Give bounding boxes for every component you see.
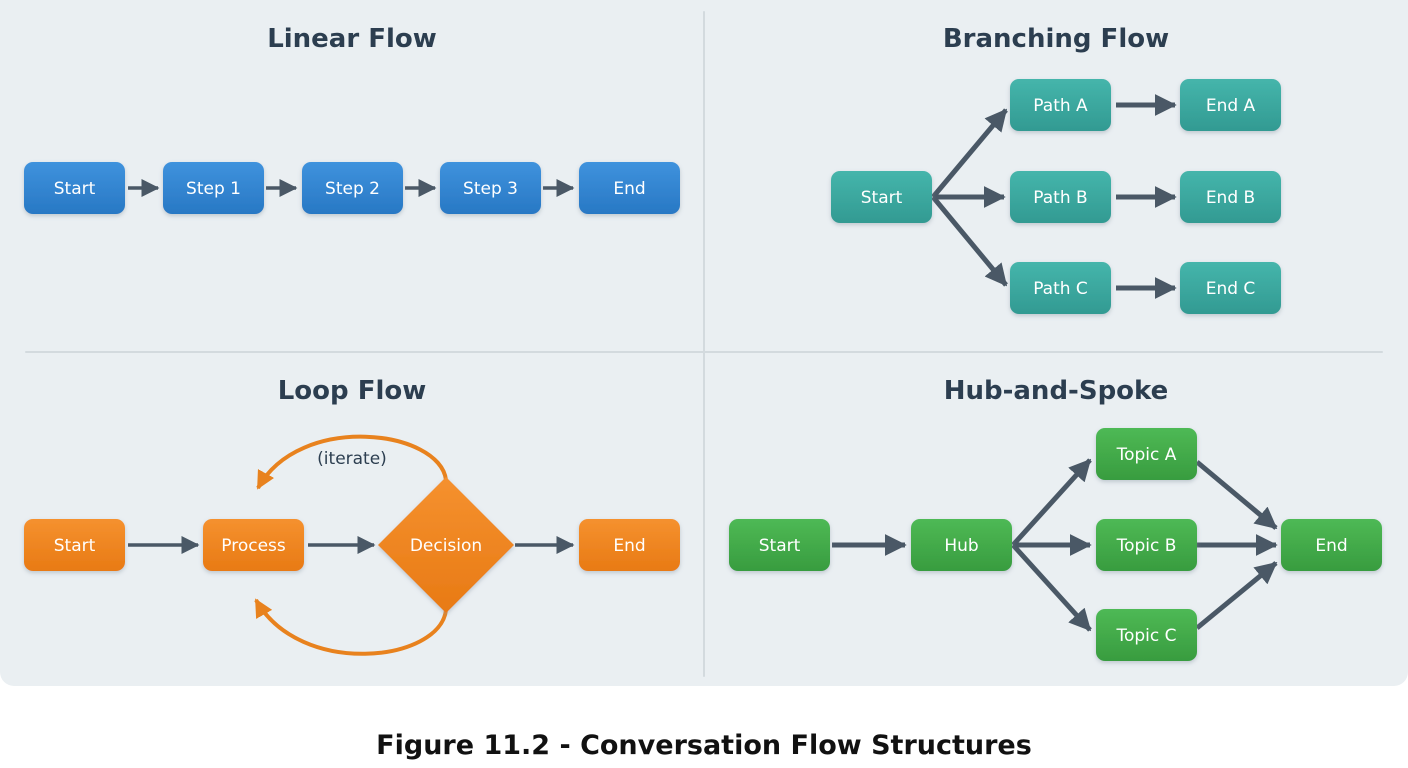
node-label: Step 2 bbox=[325, 179, 380, 199]
hub-edges bbox=[832, 460, 1276, 630]
node-label: Start bbox=[54, 536, 96, 556]
edge-hub-to-topicC bbox=[1013, 545, 1090, 630]
node-loop-start[interactable]: Start bbox=[24, 519, 125, 571]
node-label: End C bbox=[1206, 279, 1256, 299]
panel-title-loop: Loop Flow bbox=[278, 376, 427, 406]
panel-title-hub: Hub-and-Spoke bbox=[944, 376, 1169, 406]
node-branching-endC[interactable]: End C bbox=[1180, 262, 1281, 314]
node-branching-pathC[interactable]: Path C bbox=[1010, 262, 1111, 314]
node-linear-step1[interactable]: Step 1 bbox=[163, 162, 264, 214]
node-label: Start bbox=[759, 536, 801, 556]
node-hub-topicB[interactable]: Topic B bbox=[1096, 519, 1197, 571]
node-linear-step2[interactable]: Step 2 bbox=[302, 162, 403, 214]
edge-topicA-to-end bbox=[1197, 462, 1276, 528]
node-loop-process[interactable]: Process bbox=[203, 519, 304, 571]
node-linear-end[interactable]: End bbox=[579, 162, 680, 214]
node-label: Topic B bbox=[1116, 536, 1177, 556]
node-label: End A bbox=[1206, 96, 1256, 116]
node-label: End bbox=[613, 536, 645, 556]
edge-start-to-pathA bbox=[933, 110, 1006, 197]
node-label: Step 3 bbox=[463, 179, 518, 199]
edge-decision-to-process-iterate-bottom bbox=[256, 600, 446, 654]
node-hub-topicA[interactable]: Topic A bbox=[1096, 428, 1197, 480]
node-branching-pathA[interactable]: Path A bbox=[1010, 79, 1111, 131]
node-label: Decision bbox=[410, 536, 482, 556]
node-loop-decision[interactable]: Decision bbox=[378, 477, 514, 613]
figure-caption: Figure 11.2 - Conversation Flow Structur… bbox=[376, 730, 1032, 761]
loop-iterate-label: (iterate) bbox=[317, 449, 387, 469]
node-label: Start bbox=[861, 188, 903, 208]
node-branching-start[interactable]: Start bbox=[831, 171, 932, 223]
edge-topicC-to-end bbox=[1197, 563, 1276, 628]
node-label: End B bbox=[1206, 188, 1255, 208]
edge-start-to-pathC bbox=[933, 197, 1006, 285]
node-label: Path B bbox=[1033, 188, 1087, 208]
node-label: Process bbox=[221, 536, 286, 556]
node-hub-start[interactable]: Start bbox=[729, 519, 830, 571]
panel-title-linear: Linear Flow bbox=[267, 24, 437, 54]
node-hub-hub[interactable]: Hub bbox=[911, 519, 1012, 571]
panel-title-branching: Branching Flow bbox=[943, 24, 1169, 54]
figure-canvas: Linear Flow Start Step 1 Step 2 Step 3 E… bbox=[0, 0, 1408, 768]
node-label: Hub bbox=[944, 536, 978, 556]
node-linear-start[interactable]: Start bbox=[24, 162, 125, 214]
node-label: Topic A bbox=[1116, 445, 1177, 465]
node-label: Start bbox=[54, 179, 96, 199]
edge-hub-to-topicA bbox=[1013, 460, 1090, 545]
node-branching-endB[interactable]: End B bbox=[1180, 171, 1281, 223]
node-branching-pathB[interactable]: Path B bbox=[1010, 171, 1111, 223]
node-label: End bbox=[613, 179, 645, 199]
node-hub-topicC[interactable]: Topic C bbox=[1096, 609, 1197, 661]
node-label: Path C bbox=[1033, 279, 1088, 299]
node-label: Topic C bbox=[1115, 626, 1176, 646]
node-label: Path A bbox=[1033, 96, 1088, 116]
node-label: End bbox=[1315, 536, 1347, 556]
node-loop-end[interactable]: End bbox=[579, 519, 680, 571]
node-branching-endA[interactable]: End A bbox=[1180, 79, 1281, 131]
node-label: Step 1 bbox=[186, 179, 241, 199]
node-linear-step3[interactable]: Step 3 bbox=[440, 162, 541, 214]
node-hub-end[interactable]: End bbox=[1281, 519, 1382, 571]
